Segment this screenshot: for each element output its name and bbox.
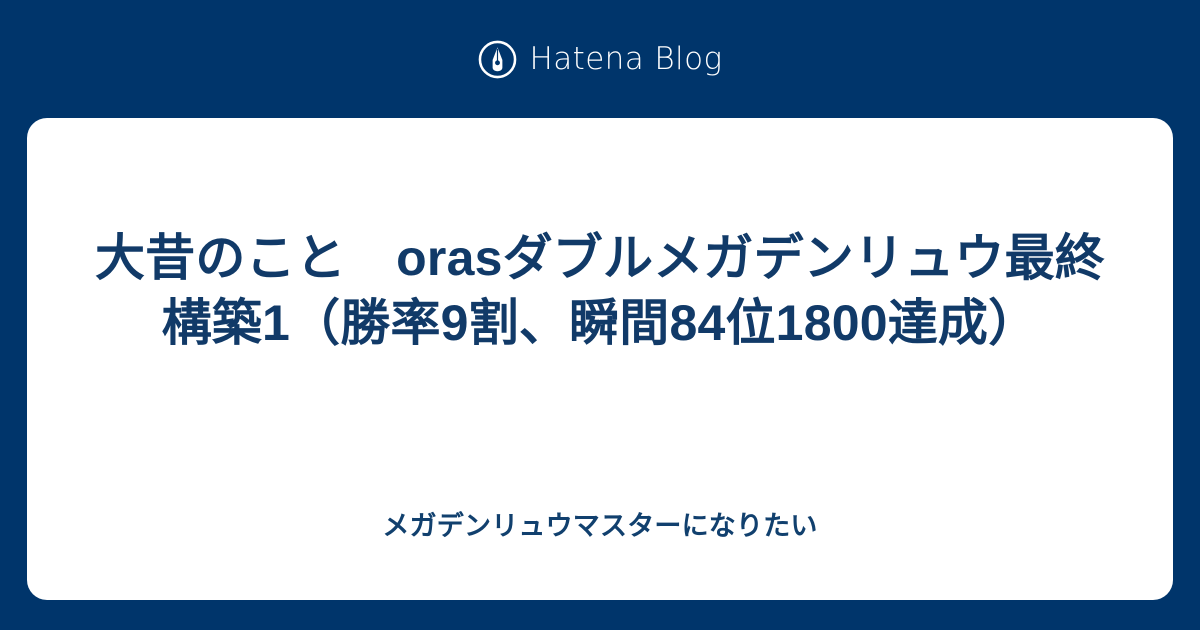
entry-card-panel: 大昔のこと orasダブルメガデンリュウ最終構築1（勝率9割、瞬間84位1800… (27, 118, 1173, 600)
hatena-blog-og-card: Hatena Blog 大昔のこと orasダブルメガデンリュウ最終構築1（勝率… (0, 0, 1200, 630)
hatena-pen-nib-icon (478, 40, 517, 79)
brand-name: Hatena Blog (530, 44, 723, 75)
blog-title: メガデンリュウマスターになりたい (27, 508, 1173, 544)
brand-header: Hatena Blog (0, 0, 1200, 118)
entry-title: 大昔のこと orasダブルメガデンリュウ最終構築1（勝率9割、瞬間84位1800… (27, 226, 1173, 356)
